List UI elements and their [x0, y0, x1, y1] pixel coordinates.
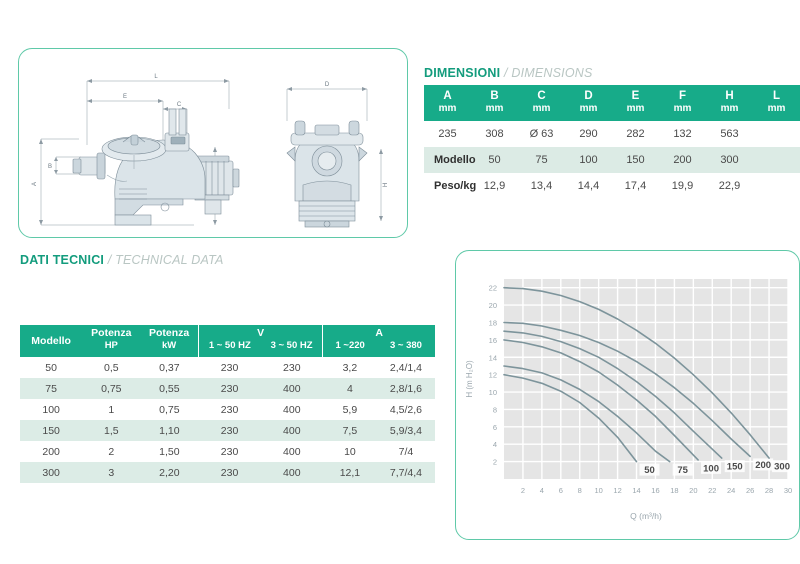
dimensions-col-a-unit: mm — [424, 103, 471, 116]
tech-cell-modello: 75 — [20, 378, 82, 399]
table-row: 100 1 0,75 230 400 5,9 4,5/2,6 — [20, 399, 435, 420]
tech-cell-a3: 7/4 — [377, 441, 435, 462]
dimensions-modello-0: 50 — [471, 147, 518, 173]
chart-series-label: 300 — [774, 462, 790, 473]
tech-col-v-1-50: 1 ~ 50 HZ — [198, 340, 260, 357]
technical-title-it: DATI TECNICI — [20, 253, 104, 267]
tech-group-a: A — [323, 325, 435, 340]
dimensions-col-c: C mm — [518, 85, 565, 121]
dimensions-peso-4: 19,9 — [659, 173, 706, 199]
tech-cell-v1: 230 — [198, 462, 260, 483]
chart-x-tick-label: 22 — [708, 486, 716, 495]
dimensions-col-l-unit: mm — [753, 103, 800, 116]
tech-cell-a3: 2,8/1,6 — [377, 378, 435, 399]
dimensions-col-a-letter: A — [443, 90, 451, 102]
tech-group-v: V — [198, 325, 323, 340]
tech-cell-v1: 230 — [198, 399, 260, 420]
tech-cell-a1: 5,9 — [323, 399, 377, 420]
tech-cell-a3: 5,9/3,4 — [377, 420, 435, 441]
chart-series-label: 100 — [703, 463, 719, 474]
dimensions-modello-empty — [753, 147, 800, 173]
chart-series-label: 50 — [644, 465, 655, 476]
chart-y-tick-label: 14 — [489, 353, 497, 362]
technical-title-en: TECHNICAL DATA — [115, 253, 223, 267]
table-row: 50 0,5 0,37 230 230 3,2 2,4/1,4 — [20, 357, 435, 378]
dimensions-modello-label: Modello — [424, 147, 471, 173]
table-row: 235 308 Ø 63 290 282 132 563 — [424, 121, 800, 147]
pump-side-view — [73, 109, 239, 225]
dimensions-title-en: DIMENSIONS — [511, 66, 592, 80]
svg-text:C: C — [177, 102, 182, 108]
dimensions-modello-4: 200 — [659, 147, 706, 173]
tech-cell-hp: 2 — [82, 441, 140, 462]
tech-col-v-3-50: 3 ~ 50 HZ — [261, 340, 323, 357]
dimension-line-e: E — [87, 94, 163, 144]
dimension-line-h: H — [379, 149, 389, 221]
dimensions-title-it: DIMENSIONI — [424, 66, 500, 80]
tech-cell-modello: 50 — [20, 357, 82, 378]
dimensions-col-h-unit: mm — [706, 103, 753, 116]
performance-chart-panel: 2468101214161820222468101214161820222426… — [455, 250, 800, 540]
dimensions-value-d: 290 — [565, 121, 612, 147]
dimensions-value-a: 235 — [424, 121, 471, 147]
tech-cell-hp: 1,5 — [82, 420, 140, 441]
chart-x-tick-label: 28 — [765, 486, 773, 495]
chart-series-label: 75 — [677, 465, 688, 476]
chart-x-tick-label: 14 — [632, 486, 640, 495]
dimensions-col-h-letter: H — [725, 90, 733, 102]
dimensions-peso-1: 13,4 — [518, 173, 565, 199]
dimensions-peso-3: 17,4 — [612, 173, 659, 199]
tech-cell-hp: 0,5 — [82, 357, 140, 378]
chart-x-tick-label: 6 — [559, 486, 563, 495]
chart-y-tick-label: 2 — [493, 458, 497, 467]
dimensions-col-l: L mm — [753, 85, 800, 121]
tech-cell-v3: 400 — [261, 420, 323, 441]
chart-x-tick-label: 2 — [521, 486, 525, 495]
chart-plot-area — [504, 279, 788, 479]
chart-x-tick-label: 18 — [670, 486, 678, 495]
dimensions-col-l-letter: L — [773, 90, 780, 102]
tech-col-a-3-380: 3 ~ 380 — [377, 340, 435, 357]
dimensions-table-container: A mm B mm C mm D mm E mm — [424, 85, 800, 199]
dimensions-value-e: 282 — [612, 121, 659, 147]
tech-cell-modello: 150 — [20, 420, 82, 441]
chart-x-tick-label: 30 — [784, 486, 792, 495]
tech-cell-a1: 4 — [323, 378, 377, 399]
dimension-line-d: D — [287, 82, 367, 121]
pump-drawing-panel: L E C — [18, 48, 408, 238]
tech-cell-hp: 3 — [82, 462, 140, 483]
svg-text:D: D — [325, 82, 330, 88]
tech-cell-v1: 230 — [198, 378, 260, 399]
dimensions-modello-3: 150 — [612, 147, 659, 173]
performance-chart: 2468101214161820222468101214161820222426… — [456, 251, 800, 541]
tech-cell-modello: 200 — [20, 441, 82, 462]
pump-drawing: L E C — [19, 49, 409, 239]
dimensions-value-f: 132 — [659, 121, 706, 147]
dimensions-col-h: H mm — [706, 85, 753, 121]
dimensions-col-e-letter: E — [632, 90, 640, 102]
chart-y-tick-label: 16 — [489, 336, 497, 345]
dimensions-table: A mm B mm C mm D mm E mm — [424, 85, 800, 199]
tech-cell-modello: 300 — [20, 462, 82, 483]
chart-y-tick-label: 8 — [493, 405, 497, 414]
tech-cell-a1: 7,5 — [323, 420, 377, 441]
dimensions-value-b: 308 — [471, 121, 518, 147]
tech-cell-kw: 1,50 — [140, 441, 198, 462]
svg-text:L: L — [154, 74, 158, 80]
tech-cell-a3: 4,5/2,6 — [377, 399, 435, 420]
tech-cell-v3: 230 — [261, 357, 323, 378]
tech-cell-a1: 10 — [323, 441, 377, 462]
tech-col-a-1-220: 1 ~220 — [323, 340, 377, 357]
dimensions-header-row: A mm B mm C mm D mm E mm — [424, 85, 800, 121]
dimensions-modello-5: 300 — [706, 147, 753, 173]
tech-cell-kw: 0,75 — [140, 399, 198, 420]
table-row: 200 2 1,50 230 400 10 7/4 — [20, 441, 435, 462]
dimensions-section-title: DIMENSIONI / DIMENSIONS — [424, 66, 593, 80]
tech-cell-a3: 2,4/1,4 — [377, 357, 435, 378]
chart-y-tick-label: 20 — [489, 301, 497, 310]
table-row: Modello 50 75 100 150 200 300 — [424, 147, 800, 173]
tech-cell-v3: 400 — [261, 399, 323, 420]
dimensions-value-c: Ø 63 — [518, 121, 565, 147]
chart-x-tick-label: 4 — [540, 486, 544, 495]
dimensions-peso-empty — [753, 173, 800, 199]
svg-text:H: H — [383, 183, 389, 187]
tech-cell-a1: 3,2 — [323, 357, 377, 378]
tech-cell-v3: 400 — [261, 462, 323, 483]
chart-y-axis-label: H (m H₂O) — [465, 360, 474, 398]
technical-table: Modello Potenza Potenza V A HP kW 1 ~ 50… — [20, 325, 435, 483]
chart-x-tick-label: 16 — [651, 486, 659, 495]
dimensions-peso-0: 12,9 — [471, 173, 518, 199]
chart-x-tick-label: 10 — [594, 486, 602, 495]
technical-table-container: Modello Potenza Potenza V A HP kW 1 ~ 50… — [20, 325, 435, 483]
tech-col-potenza-hp-line1: Potenza — [82, 325, 140, 340]
dimensions-value-h: 563 — [706, 121, 753, 147]
tech-cell-v3: 400 — [261, 378, 323, 399]
dimensions-col-b: B mm — [471, 85, 518, 121]
svg-text:E: E — [123, 94, 127, 100]
dimensions-col-d-unit: mm — [565, 103, 612, 116]
tech-col-potenza-hp-line2: HP — [82, 340, 140, 357]
tech-cell-kw: 1,10 — [140, 420, 198, 441]
dimensions-col-f: F mm — [659, 85, 706, 121]
chart-y-tick-label: 18 — [489, 318, 497, 327]
chart-y-tick-label: 6 — [493, 423, 497, 432]
technical-header-group-row: Modello Potenza Potenza V A — [20, 325, 435, 340]
technical-header-sub-row: HP kW 1 ~ 50 HZ 3 ~ 50 HZ 1 ~220 3 ~ 380 — [20, 340, 435, 357]
tech-cell-kw: 0,55 — [140, 378, 198, 399]
dimensions-col-e: E mm — [612, 85, 659, 121]
tech-cell-hp: 1 — [82, 399, 140, 420]
table-row: 75 0,75 0,55 230 400 4 2,8/1,6 — [20, 378, 435, 399]
tech-cell-v1: 230 — [198, 441, 260, 462]
pump-front-view — [287, 121, 367, 227]
dimensions-peso-label: Peso/kg — [424, 173, 471, 199]
dimensions-col-a: A mm — [424, 85, 471, 121]
dimensions-col-e-unit: mm — [612, 103, 659, 116]
dimensions-col-f-letter: F — [679, 90, 686, 102]
tech-col-potenza-kw-line1: Potenza — [140, 325, 198, 340]
dimensions-col-f-unit: mm — [659, 103, 706, 116]
chart-x-tick-label: 12 — [613, 486, 621, 495]
tech-cell-v1: 230 — [198, 357, 260, 378]
svg-text:B: B — [48, 164, 52, 170]
dimensions-col-b-letter: B — [490, 90, 498, 102]
technical-title-sep: / — [104, 253, 115, 267]
dimensions-value-l-empty — [753, 121, 800, 147]
table-row: 300 3 2,20 230 400 12,1 7,7/4,4 — [20, 462, 435, 483]
table-row: 150 1,5 1,10 230 400 7,5 5,9/3,4 — [20, 420, 435, 441]
dimensions-col-c-unit: mm — [518, 103, 565, 116]
chart-y-tick-label: 12 — [489, 371, 497, 380]
chart-x-tick-label: 26 — [746, 486, 754, 495]
chart-series-label: 200 — [755, 460, 771, 471]
tech-cell-v1: 230 — [198, 420, 260, 441]
chart-y-tick-label: 4 — [493, 440, 497, 449]
dimensions-col-b-unit: mm — [471, 103, 518, 116]
tech-cell-a3: 7,7/4,4 — [377, 462, 435, 483]
dimensions-col-d-letter: D — [584, 90, 592, 102]
chart-x-tick-label: 8 — [578, 486, 582, 495]
chart-x-axis-label: Q (m³/h) — [630, 511, 662, 521]
technical-section-title: DATI TECNICI / TECHNICAL DATA — [20, 253, 224, 267]
dimensions-peso-2: 14,4 — [565, 173, 612, 199]
dimensions-modello-1: 75 — [518, 147, 565, 173]
chart-x-tick-label: 20 — [689, 486, 697, 495]
dimensions-peso-5: 22,9 — [706, 173, 753, 199]
dimensions-col-c-letter: C — [537, 90, 545, 102]
tech-cell-modello: 100 — [20, 399, 82, 420]
dimension-line-l: L — [87, 74, 229, 145]
chart-x-tick-label: 24 — [727, 486, 735, 495]
dimensions-modello-2: 100 — [565, 147, 612, 173]
chart-y-tick-label: 22 — [489, 284, 497, 293]
chart-series-label: 150 — [727, 462, 743, 473]
svg-text:A: A — [32, 182, 38, 186]
tech-cell-kw: 0,37 — [140, 357, 198, 378]
table-row: Peso/kg 12,9 13,4 14,4 17,4 19,9 22,9 — [424, 173, 800, 199]
tech-cell-a1: 12,1 — [323, 462, 377, 483]
tech-cell-v3: 400 — [261, 441, 323, 462]
tech-cell-hp: 0,75 — [82, 378, 140, 399]
dimensions-col-d: D mm — [565, 85, 612, 121]
dimensions-title-sep: / — [500, 66, 511, 80]
tech-col-modello: Modello — [20, 325, 82, 357]
tech-col-potenza-kw-line2: kW — [140, 340, 198, 357]
chart-y-tick-label: 10 — [489, 388, 497, 397]
tech-cell-kw: 2,20 — [140, 462, 198, 483]
